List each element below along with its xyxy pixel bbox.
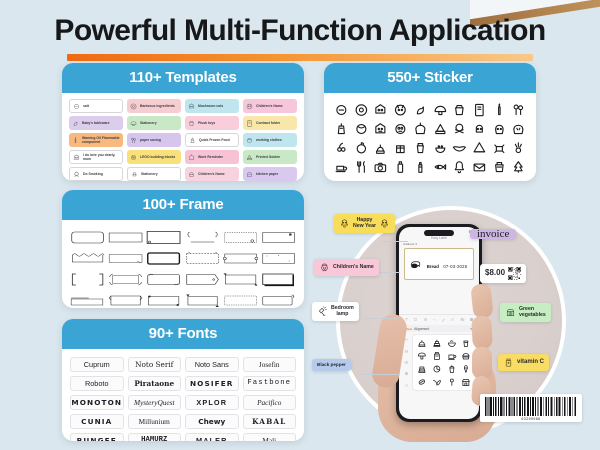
arrow-corner-frame[interactable] (185, 292, 220, 308)
tag-frame[interactable] (185, 271, 220, 288)
template-chip-paper[interactable]: paper saving (127, 133, 181, 147)
template-chip-mushroom[interactable]: Mushroom cuts (185, 99, 239, 113)
font-chip-fastbone[interactable]: Fastbone (243, 376, 297, 391)
phone-screen[interactable]: 9:41 Easy Label Address ▾ Bread 07-03-20 (399, 227, 479, 419)
template-chip-label: Quick Frozen Food (199, 138, 230, 142)
folder-icon (245, 119, 254, 128)
title-block: Powerful Multi-Function Application (0, 14, 600, 61)
font-name-label: Mali (262, 437, 276, 441)
no-smoking-icon (72, 170, 81, 179)
bowl-noodle-icon[interactable] (445, 337, 459, 349)
font-chip-noto-serif[interactable]: Noto Serif (128, 357, 182, 372)
popcorn-icon[interactable] (450, 101, 469, 119)
font-chip-cunia[interactable]: CUNIA (70, 414, 124, 429)
font-name-label: Pacifico (257, 399, 281, 406)
floating-label-barcode[interactable]: 63259986 (480, 394, 582, 422)
bear-bag-icon[interactable] (371, 120, 390, 138)
template-chip-heart-note[interactable]: I do love you dearly, mom (69, 150, 123, 164)
book-cover-icon[interactable] (470, 101, 489, 119)
cat-face-icon[interactable] (371, 101, 390, 119)
font-chip-pirataone[interactable]: Pirataone (128, 376, 182, 391)
ice-cream-icon[interactable] (459, 363, 473, 375)
font-chip-cuprum[interactable]: Cuprum (70, 357, 124, 372)
candy-wrap-icon[interactable] (490, 139, 509, 157)
bbq-icon (129, 102, 138, 111)
font-name-label: Pirataone (134, 380, 174, 387)
spoon-icon[interactable] (445, 376, 459, 388)
gift-box-icon[interactable] (391, 139, 410, 157)
template-chip-folder[interactable]: Contract folder (243, 116, 297, 130)
template-chip-label: salt (83, 104, 89, 108)
burger-icon[interactable] (459, 350, 473, 362)
mug-icon[interactable] (332, 158, 351, 176)
tissue-roll-icon (245, 170, 254, 179)
phone-scene: 9:41 Easy Label Address ▾ Bread 07-03-20 (312, 196, 600, 450)
blocks-icon (129, 153, 138, 162)
floating-label-price-text: $8.00 (485, 270, 505, 276)
card-templates-header: 110+ Templates (62, 63, 304, 93)
paper-icon (129, 136, 138, 145)
cupcake-icon[interactable] (445, 363, 459, 375)
floating-label-vitamin-c[interactable]: vitamin C (498, 354, 549, 371)
card-sticker-body (324, 93, 536, 181)
phone-tool-icon-row[interactable] (399, 314, 479, 324)
floating-label-green-vegetables[interactable]: Greenvegetables (500, 303, 551, 322)
template-chip-label: Mushroom cuts (198, 104, 223, 108)
time-icon[interactable] (423, 317, 428, 322)
font-name-label: MONOTON (71, 399, 122, 406)
phone-bottom-area (399, 334, 479, 394)
fork-knife-icon[interactable] (352, 158, 371, 176)
font-name-label: Millunium (139, 418, 170, 425)
fonts-grid: CuprumNoto SerifNoto SansJosefinRobotoPi… (69, 355, 297, 441)
baby-bottle-icon (71, 119, 80, 128)
font-chip-roboto[interactable]: Roboto (70, 376, 124, 391)
mushroom-hat-icon[interactable] (431, 101, 450, 119)
clip-frame[interactable] (261, 292, 296, 308)
template-chip-label: Contract folder (256, 121, 280, 125)
phone-top-toolbar[interactable]: Address ▾ (399, 240, 479, 247)
pumpkin-icon[interactable] (509, 120, 528, 138)
frame-grid (69, 226, 297, 308)
phone-notch (424, 230, 454, 236)
sticker-grid (331, 99, 529, 178)
font-chip-millunium[interactable]: Millunium (128, 414, 182, 429)
label-canvas[interactable]: Bread 07-03-2026 (404, 248, 474, 280)
apple-icon[interactable] (352, 139, 371, 157)
templates-grid: saltBarbecue ingredientsMushroom cutsChi… (69, 99, 297, 181)
cake-icon[interactable] (371, 139, 390, 157)
bottle-icon[interactable] (391, 158, 410, 176)
light-rect-frame[interactable] (108, 250, 143, 267)
bracket-frame[interactable] (70, 271, 105, 288)
card-sticker-header: 550+ Sticker (324, 63, 536, 93)
mushroom-icon (187, 102, 196, 111)
template-chip-label: Barbecue ingredients (140, 104, 175, 108)
tree-icon[interactable] (509, 158, 528, 176)
font-chip-monoton[interactable]: MONOTON (70, 395, 124, 410)
child-face-icon (319, 262, 330, 273)
template-chip-no-smoking[interactable]: Do Smoking (69, 167, 123, 181)
qr-code-icon (508, 267, 521, 280)
floating-label-black-pepper[interactable]: Black pepper (312, 359, 351, 371)
floating-label-new-year[interactable]: HappyNew Year (334, 214, 395, 233)
jack-o-lantern-icon[interactable] (490, 120, 509, 138)
font-name-label: Fastbone (247, 380, 291, 387)
label-date: 07-03-2026 (443, 264, 467, 269)
floating-label-price[interactable]: $8.00 (480, 264, 526, 283)
swirl-candy-icon[interactable] (352, 120, 371, 138)
font-chip-josefin[interactable]: Josefin (243, 357, 297, 372)
template-chip-blocks[interactable]: LEGO building blocks (127, 150, 181, 164)
pig-face-icon[interactable] (391, 101, 410, 119)
template-chip-baby-bottle[interactable]: Baby's tableware (69, 116, 123, 130)
floating-label-green-vegetables-text: Greenvegetables (519, 306, 546, 319)
template-chip-snowflake[interactable]: Quick Frozen Food (185, 133, 239, 147)
title-underline (67, 54, 533, 61)
bird-icon[interactable] (411, 101, 430, 119)
font-chip-mali[interactable]: Mali (243, 433, 297, 441)
shirt-icon (245, 136, 254, 145)
font-name-label: CUNIA (81, 418, 112, 425)
barcode-number: 63259986 (484, 417, 578, 421)
alien-face-icon[interactable] (391, 120, 410, 138)
font-name-label: Chewy (198, 418, 225, 425)
template-chip-label: paper saving (140, 138, 161, 142)
heart-note-icon (72, 153, 81, 162)
mushroom-icon[interactable] (415, 350, 429, 362)
card-fonts-header: 90+ Fonts (62, 319, 304, 349)
template-chip-label: Stationery (140, 121, 157, 125)
font-chip-xplor[interactable]: XPLOR (185, 395, 239, 410)
floating-label-invoice[interactable]: invoice (470, 229, 516, 239)
soap-icon[interactable] (411, 158, 430, 176)
font-chip-noto-sans[interactable]: Noto Sans (185, 357, 239, 372)
snowflake-icon (188, 136, 197, 145)
template-chip-bbq[interactable]: Barbecue ingredients (127, 99, 181, 113)
bread-loaf-icon (409, 258, 422, 271)
shadow-rect-frame[interactable] (261, 271, 296, 288)
card-frame[interactable]: 100+ Frame (62, 190, 304, 308)
template-chip-child-face[interactable]: Children's Name (243, 99, 297, 113)
coffee-bean-icon[interactable] (415, 376, 429, 388)
thin-rect-frame[interactable] (108, 229, 143, 246)
card-frame-header: 100+ Frame (62, 190, 304, 220)
crown-icon[interactable] (431, 120, 450, 138)
label-canvas-text: Bread 07-03-2026 (425, 255, 469, 273)
ribbon-frame[interactable] (108, 292, 143, 308)
floating-label-vitamin-c-text: vitamin C (517, 359, 544, 365)
font-name-label: Roboto (85, 380, 109, 387)
template-chip-teddy-bear[interactable]: Plush toys (185, 116, 239, 130)
template-chip-clipboard[interactable]: Work Reminder (185, 150, 239, 164)
font-name-label: Josefin (259, 361, 280, 368)
lamp-icon (317, 306, 328, 317)
bell-icon-right (379, 218, 390, 229)
ticket-frame[interactable] (223, 250, 258, 267)
font-name-label: HAMURZ (141, 437, 167, 441)
canvas-empty-space (399, 280, 479, 314)
corner-flourish-frame[interactable] (185, 229, 220, 246)
font-chip-bungee[interactable]: BUNGEE (70, 433, 124, 441)
floating-label-new-year-text: HappyNew Year (353, 217, 376, 230)
storefront-icon[interactable] (459, 376, 473, 388)
dotted-corner-frame[interactable] (223, 229, 258, 246)
card-templates-body: saltBarbecue ingredientsMushroom cutsChi… (62, 93, 304, 181)
font-name-label: Noto Sans (195, 361, 229, 368)
leaf-icon[interactable] (430, 376, 444, 388)
toolbar-hint-label: Address (403, 242, 414, 246)
font-chip-nosifer[interactable]: NOSIFER (185, 376, 239, 391)
template-chip-label: Baby's tableware (82, 121, 110, 125)
template-chip-label: LEGO building blocks (140, 155, 175, 159)
child-icon (187, 170, 196, 179)
card-fonts[interactable]: 90+ Fonts CuprumNoto SerifNoto SansJosef… (62, 319, 304, 441)
leader-line-pepper (360, 374, 400, 375)
template-chip-label: Plush toys (198, 121, 215, 125)
image-icon[interactable] (460, 317, 465, 322)
font-name-label: Noto Serif (135, 361, 173, 368)
vegetable-icon (505, 307, 516, 318)
template-chip-pen[interactable]: Stationery (127, 167, 181, 181)
letter-icon[interactable] (470, 158, 489, 176)
template-chip-label: Stationery (141, 172, 158, 176)
hand-finger-2 (471, 315, 493, 349)
basket-icon[interactable] (411, 120, 430, 138)
paired-corner-frame[interactable] (108, 271, 143, 288)
shape-icon[interactable] (413, 317, 418, 322)
hand-finger-1 (470, 283, 493, 319)
bat-icon[interactable] (450, 139, 469, 157)
rounded-rect-frame[interactable] (70, 229, 105, 246)
layer-cake-icon[interactable] (430, 337, 444, 349)
barcode-icon (484, 397, 578, 416)
font-chip-hamurz[interactable]: HAMURZ (128, 433, 182, 441)
table-icon[interactable] (404, 360, 409, 365)
font-chip-mysteryquest[interactable]: MysteryQuest (128, 395, 182, 410)
font-chip-chewy[interactable]: Chewy (185, 414, 239, 429)
sticker-picker-panel[interactable] (412, 334, 476, 391)
font-name-label: MysteryQuest (134, 399, 175, 406)
label-title: Bread (427, 264, 439, 269)
teacup-icon[interactable] (445, 350, 459, 362)
smiley-bowl-icon[interactable] (431, 139, 450, 157)
chevron-down-icon[interactable]: ▾ (415, 242, 417, 246)
fish-icon[interactable] (431, 158, 450, 176)
bell-icon (339, 218, 350, 229)
clipboard-icon (187, 153, 196, 162)
floating-label-black-pepper-text: Black pepper (317, 362, 346, 368)
star-corner-frame[interactable] (223, 271, 258, 288)
phone-device: 9:41 Easy Label Address ▾ Bread 07-03-20 (396, 224, 482, 422)
card-templates[interactable]: 110+ Templates saltBarbecue ingredientsM… (62, 63, 304, 181)
template-chip-tissue-roll[interactable]: kitchen paper (243, 167, 297, 181)
bowl-spoon-icon[interactable] (332, 101, 351, 119)
card-frame-body (62, 220, 304, 308)
template-chip-shirt[interactable]: working clothes (243, 133, 297, 147)
line-icon[interactable] (432, 317, 437, 322)
drink-cup-icon[interactable] (459, 337, 473, 349)
pumpkin-small-icon[interactable] (332, 120, 351, 138)
pin-corner-frame[interactable] (146, 292, 181, 308)
child-face-icon (245, 102, 254, 111)
font-name-label: NOSIFER (190, 380, 234, 387)
circle-icon[interactable] (404, 383, 409, 388)
template-chip-label: Children's Name (256, 104, 283, 108)
skull-icon[interactable] (470, 120, 489, 138)
template-chip-salt-shaker[interactable]: salt (69, 99, 123, 113)
salt-shaker-icon (72, 102, 81, 111)
warning-triangle-icon (71, 136, 80, 145)
font-name-label: BUNGEE (77, 437, 117, 441)
floating-label-bedroom-lamp-text: Bedroomlamp (331, 305, 354, 318)
template-chip-label: working clothes (256, 138, 282, 142)
floating-label-bedroom-lamp[interactable]: Bedroomlamp (312, 302, 359, 321)
page-title: Powerful Multi-Function Application (50, 14, 549, 53)
pill-bottle-icon (503, 357, 514, 368)
brackets-icon[interactable] (450, 317, 455, 322)
pen-icon (130, 170, 139, 179)
pen-icon[interactable] (441, 317, 446, 322)
pie-chart-icon[interactable] (430, 363, 444, 375)
donut-icon[interactable] (352, 101, 371, 119)
card-sticker[interactable]: 550+ Sticker (324, 63, 536, 181)
grid-icon[interactable] (404, 371, 409, 376)
leader-line-bedroom (364, 318, 398, 319)
template-chip-label: Work Reminder (198, 155, 223, 159)
hand-finger-3 (472, 347, 492, 379)
stack-icon[interactable] (415, 363, 429, 375)
scallop-frame[interactable] (70, 250, 105, 267)
double-rect-frame[interactable] (146, 229, 181, 246)
cherry-icon[interactable] (332, 139, 351, 157)
pencil-icon (129, 119, 138, 128)
speckled-frame[interactable] (261, 250, 296, 267)
skull-crossbones-icon[interactable] (450, 120, 469, 138)
template-chip-child[interactable]: Children's Name (185, 167, 239, 181)
font-name-label: KABAL (252, 418, 286, 425)
candle-icon[interactable] (490, 101, 509, 119)
witch-hat-icon[interactable] (470, 139, 489, 157)
confetti-icon[interactable] (509, 139, 528, 157)
template-chip-label: Children's Name (198, 172, 225, 176)
balloons-icon[interactable] (509, 101, 528, 119)
plain-dotted-frame[interactable] (223, 292, 258, 308)
bell-icon[interactable] (450, 158, 469, 176)
font-name-label: XPLOR (196, 399, 227, 406)
floating-label-children-name[interactable]: Children's Name (314, 259, 379, 276)
font-chip-maler[interactable]: MALER (185, 433, 239, 441)
template-chip-label: Printed Golden (256, 155, 280, 159)
floating-label-invoice-text: invoice (477, 231, 509, 237)
font-name-label: MALER (196, 437, 227, 441)
alignment-select[interactable]: Text Alignment ▾ (403, 325, 475, 332)
template-chip-label: Do Smoking (83, 172, 103, 176)
select-tag-label: Text (406, 327, 412, 331)
select-current-value: Alignment (414, 327, 468, 331)
cup-icon[interactable] (411, 139, 430, 157)
template-chip-warning-triangle[interactable]: Warning Oil Flammable component (69, 133, 123, 147)
dashed-corner-frame[interactable] (185, 250, 220, 267)
card-fonts-body: CuprumNoto SerifNoto SansJosefinRobotoPi… (62, 349, 304, 441)
font-chip-pacifico[interactable]: Pacifico (243, 395, 297, 410)
gift-bag-icon[interactable] (490, 158, 509, 176)
printer-icon (245, 153, 254, 162)
rect-dot-corner-frame[interactable] (261, 229, 296, 246)
template-chip-pencil[interactable]: Stationery (127, 116, 181, 130)
font-name-label: Cuprum (84, 361, 110, 368)
leaf-corner-frame[interactable] (146, 271, 181, 288)
template-chip-label: Warning Oil Flammable component (82, 136, 121, 144)
teddy-bear-icon (187, 119, 196, 128)
line-label-frame[interactable] (70, 292, 105, 308)
camera-icon[interactable] (371, 158, 390, 176)
template-chip-printer[interactable]: Printed Golden (243, 150, 297, 164)
floating-label-children-name-text: Children's Name (333, 264, 374, 270)
template-chip-label: kitchen paper (256, 172, 278, 176)
barcode-icon[interactable] (404, 349, 409, 354)
cake-slice-icon[interactable] (415, 337, 429, 349)
font-chip-kabal[interactable]: KABAL (243, 414, 297, 429)
leader-line-newyear (382, 241, 408, 242)
bold-rect-frame[interactable] (146, 250, 181, 267)
jar-icon[interactable] (430, 350, 444, 362)
template-chip-label: I do love you dearly, mom (83, 153, 120, 161)
